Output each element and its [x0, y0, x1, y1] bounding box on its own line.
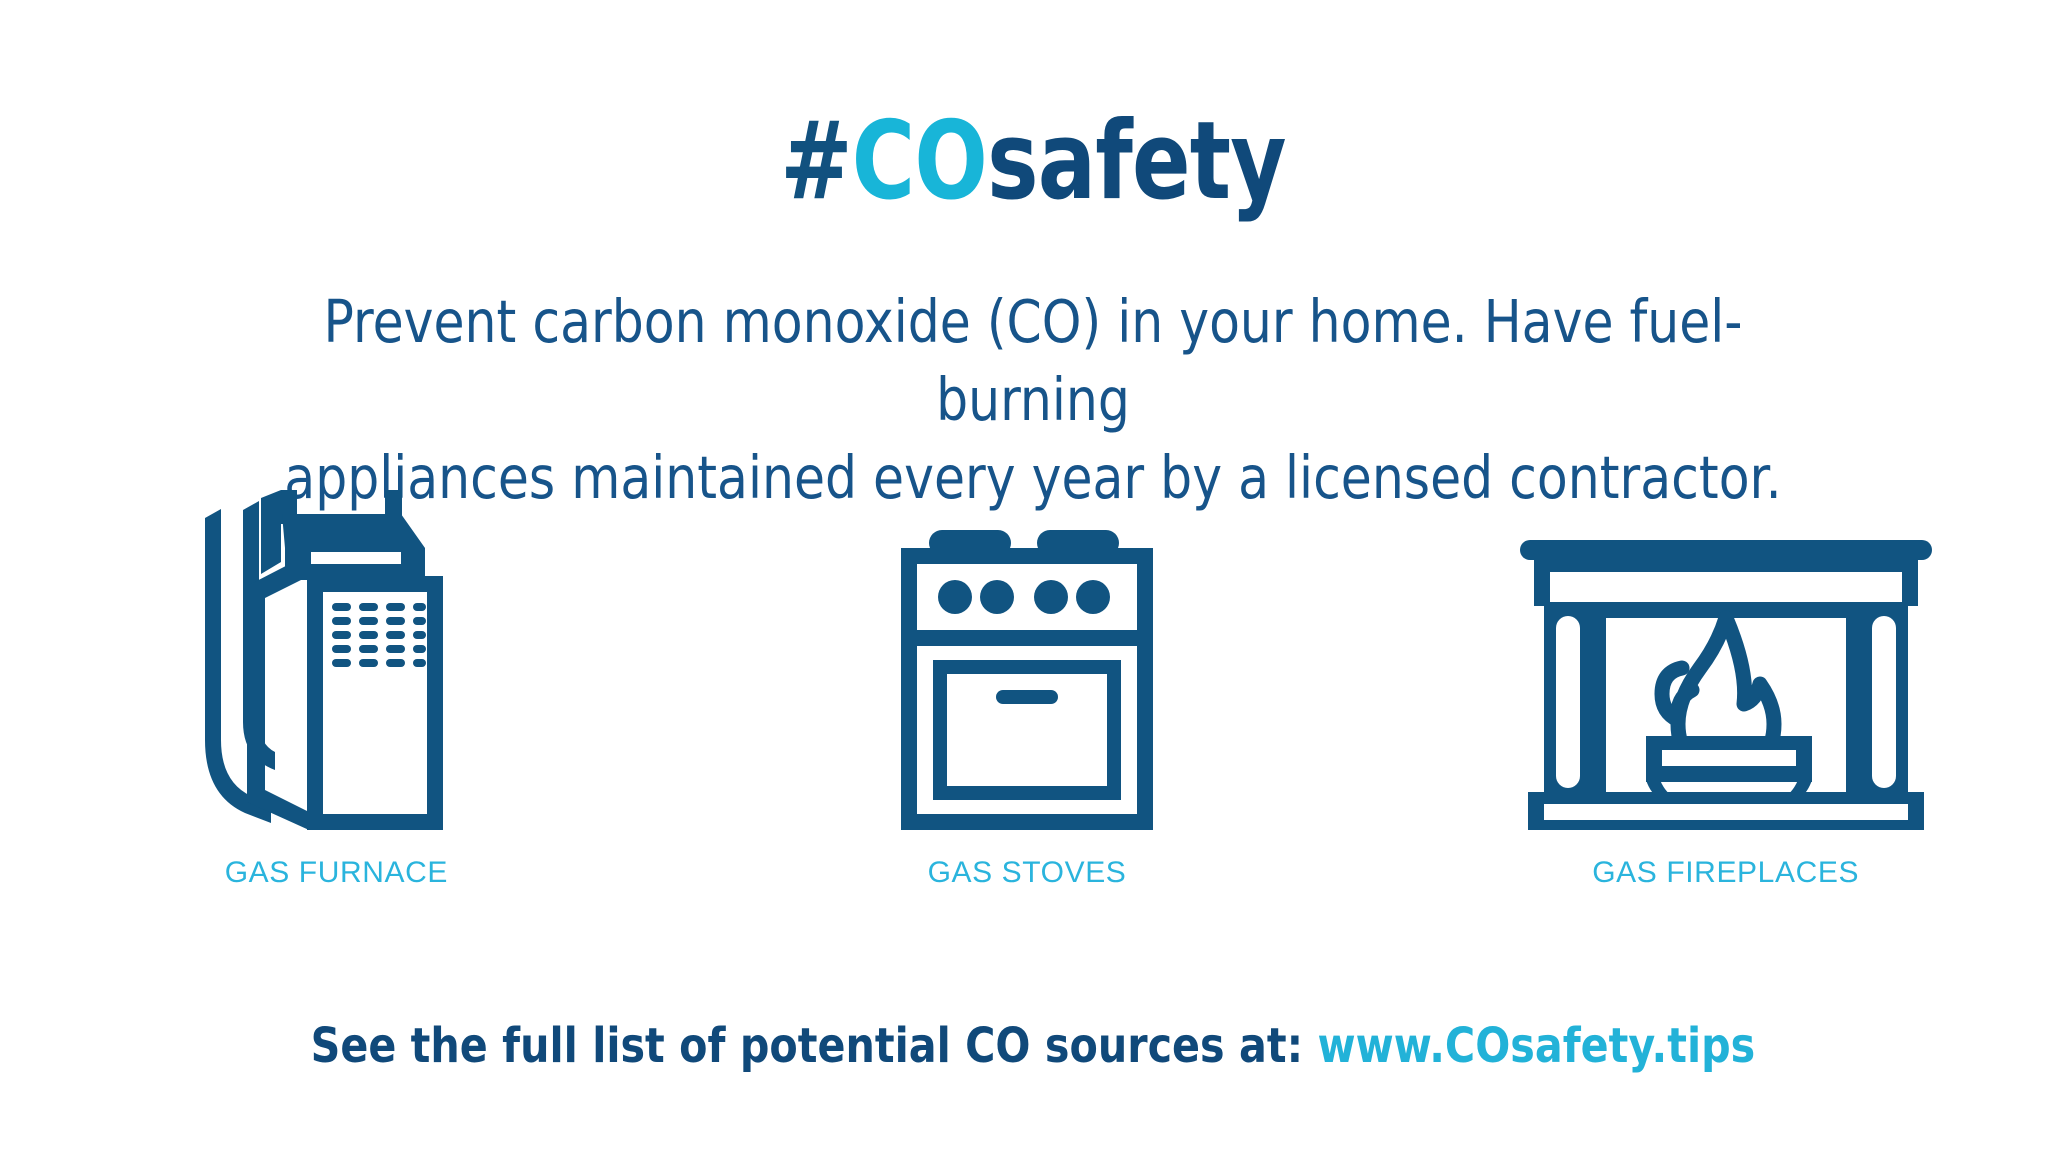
appliance-item-gas-stoves: GAS STOVES — [683, 470, 1372, 890]
gas-furnace-icon — [199, 490, 473, 830]
title-highlight: CO — [852, 99, 987, 224]
footer-lead-text: See the full list of potential CO source… — [311, 1018, 1303, 1074]
gas-stove-icon — [901, 530, 1153, 830]
gas-furnace-art — [199, 470, 473, 830]
gas-fireplace-art — [1520, 470, 1932, 830]
appliance-label-gas-stoves: GAS STOVES — [928, 856, 1127, 890]
footer-text-group: See the full list of potential CO source… — [311, 1022, 1756, 1070]
appliance-item-gas-furnace: GAS FURNACE — [0, 470, 681, 890]
gas-stove-art — [901, 470, 1153, 830]
footer-cta: See the full list of potential CO source… — [0, 1022, 2066, 1070]
footer-url-link[interactable]: www.COsafety.tips — [1318, 1018, 1756, 1074]
appliance-item-gas-fireplaces: GAS FIREPLACES — [1381, 470, 2066, 890]
subhead-line-1: Prevent carbon monoxide (CO) in your hom… — [238, 283, 1828, 439]
title-text-group: #COsafety — [780, 108, 1286, 216]
appliance-label-gas-fireplaces: GAS FIREPLACES — [1592, 856, 1859, 890]
appliance-icons-row: GAS FURNACE — [0, 470, 2066, 890]
infographic-canvas: #COsafety Prevent carbon monoxide (CO) i… — [0, 0, 2066, 1170]
title-rest: safety — [987, 99, 1286, 224]
page-title: #COsafety — [0, 108, 2066, 216]
title-hashtag: # — [780, 99, 852, 224]
gas-fireplace-icon — [1520, 540, 1932, 830]
appliance-label-gas-furnace: GAS FURNACE — [225, 856, 448, 890]
